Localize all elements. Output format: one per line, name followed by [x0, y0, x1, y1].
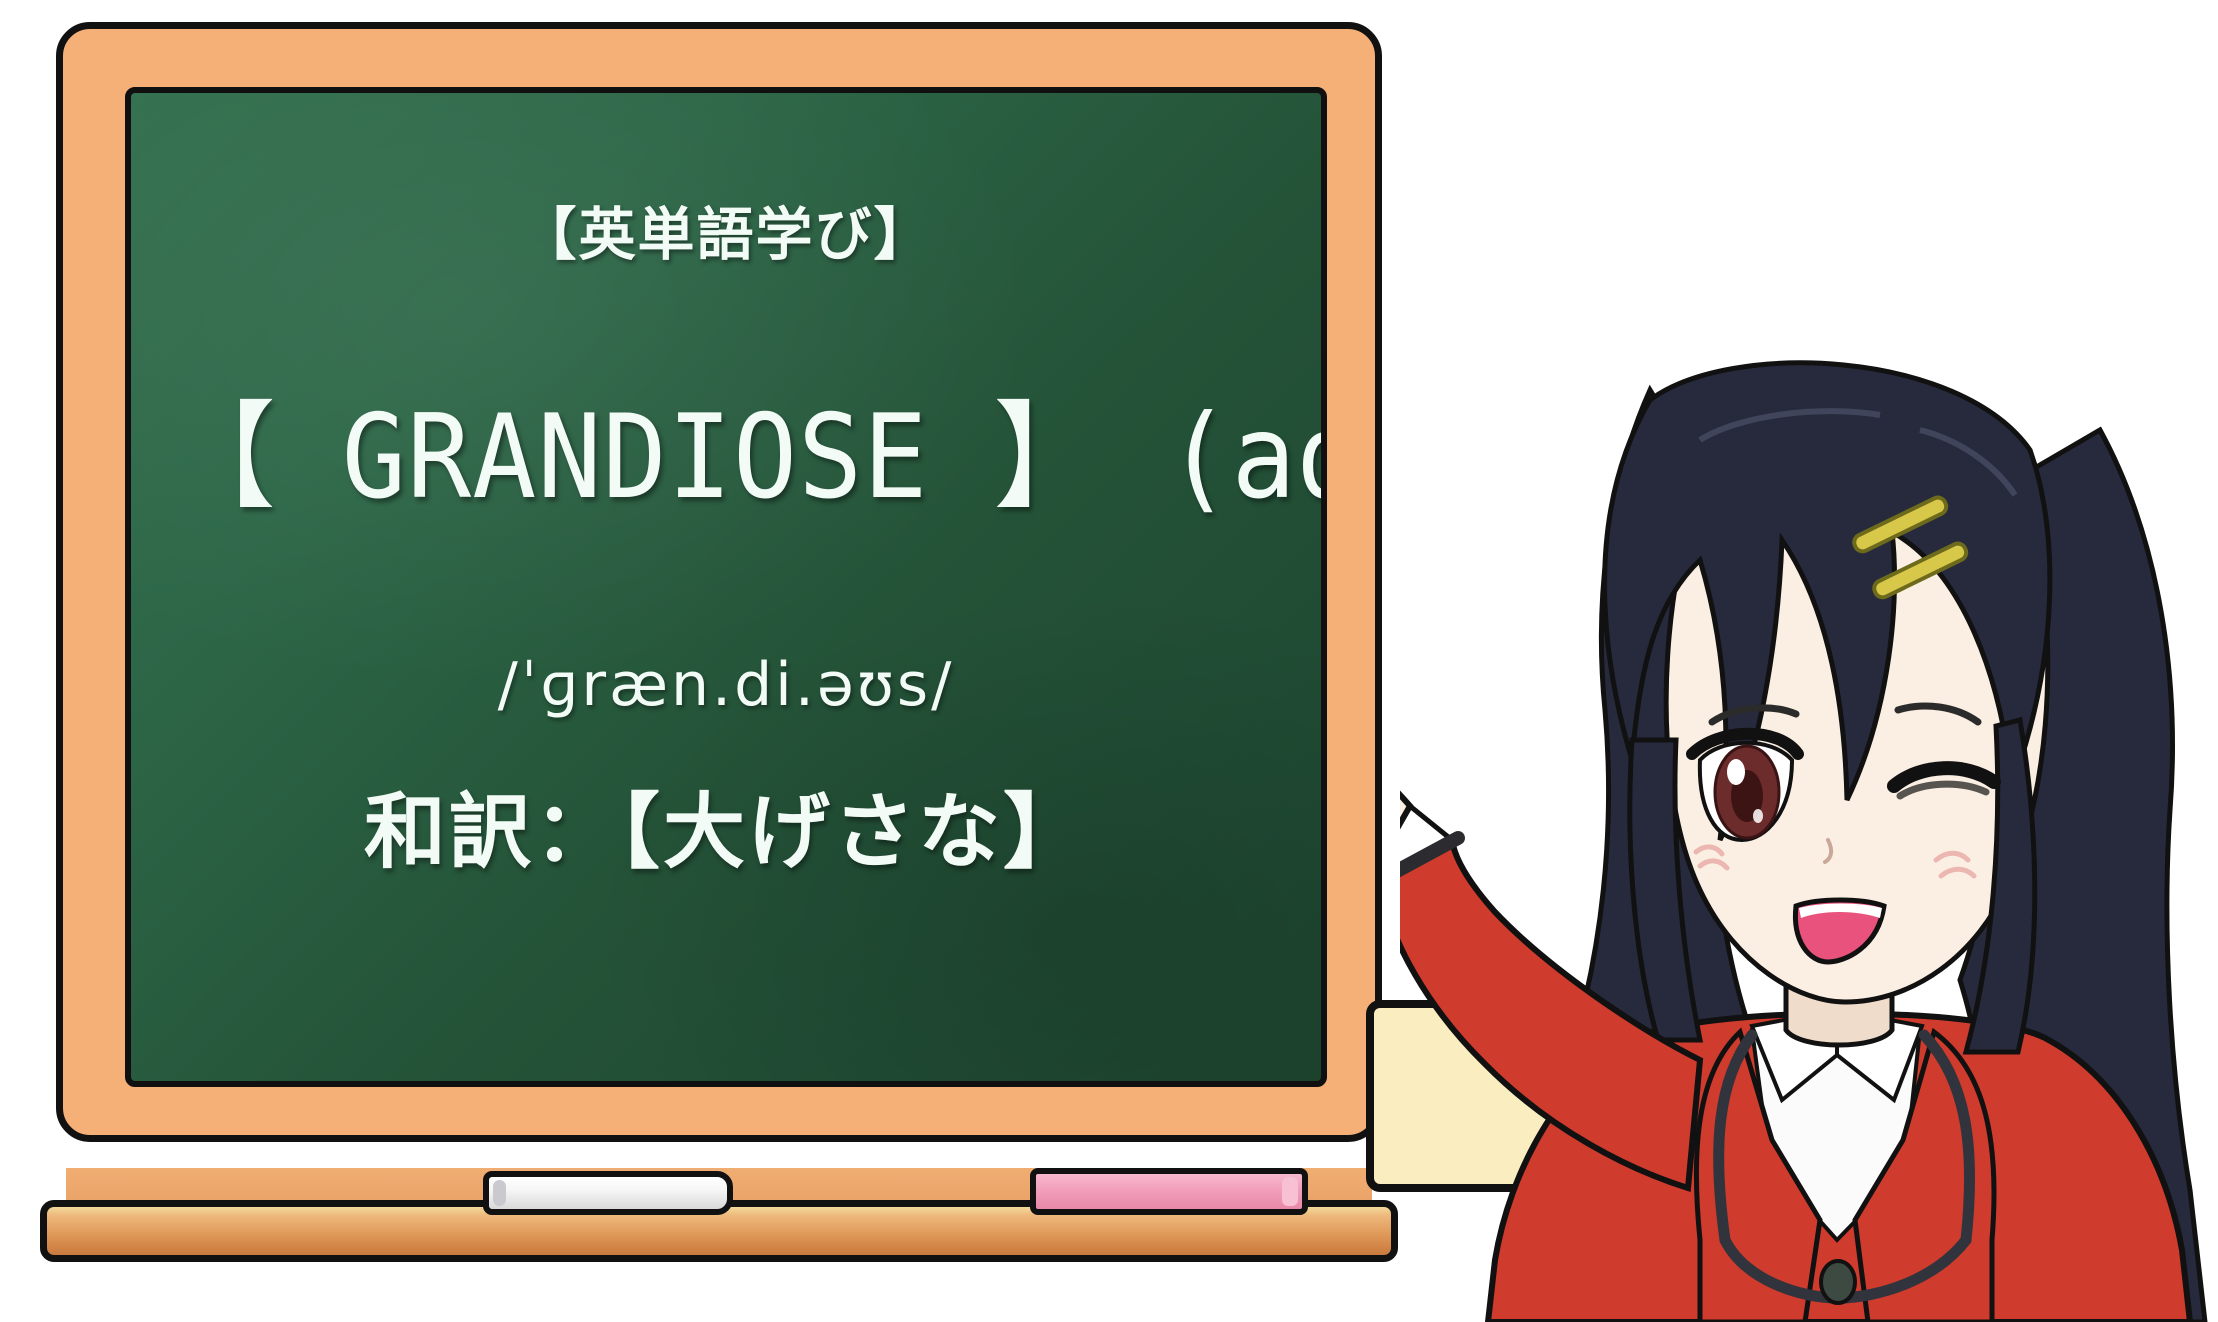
screenshot-root: 【英単語学び】 【 GRANDIOSE 】 (adjective) /ˈɡræn… [0, 0, 2218, 1322]
blazer-button-1 [1821, 1261, 1855, 1303]
presenting-hand [1400, 576, 1410, 848]
board-heading: 【英単語学び】 [131, 189, 1321, 271]
anime-teacher-character [1400, 240, 2218, 1322]
chalkboard-text-block: 【英単語学び】 【 GRANDIOSE 】 (adjective) /ˈɡræn… [131, 93, 1321, 1081]
chalkboard-frame: 【英単語学び】 【 GRANDIOSE 】 (adjective) /ˈɡræn… [56, 22, 1382, 1142]
chalk-stick-icon-white[interactable] [483, 1171, 733, 1215]
board-word-line: 【 GRANDIOSE 】 (adjective) [169, 400, 1273, 516]
board-pronunciation: /ˈɡræn.di.əʊs/ [131, 650, 1321, 720]
chalkboard-surface: 【英単語学び】 【 GRANDIOSE 】 (adjective) /ˈɡræn… [125, 87, 1327, 1087]
board-content-alt: GRANDIOSE [0, 0, 1, 1]
chalk-stick-icon-pink[interactable] [1030, 1168, 1308, 1215]
board-translation: 和訳：【大げさな】 [131, 765, 1321, 884]
